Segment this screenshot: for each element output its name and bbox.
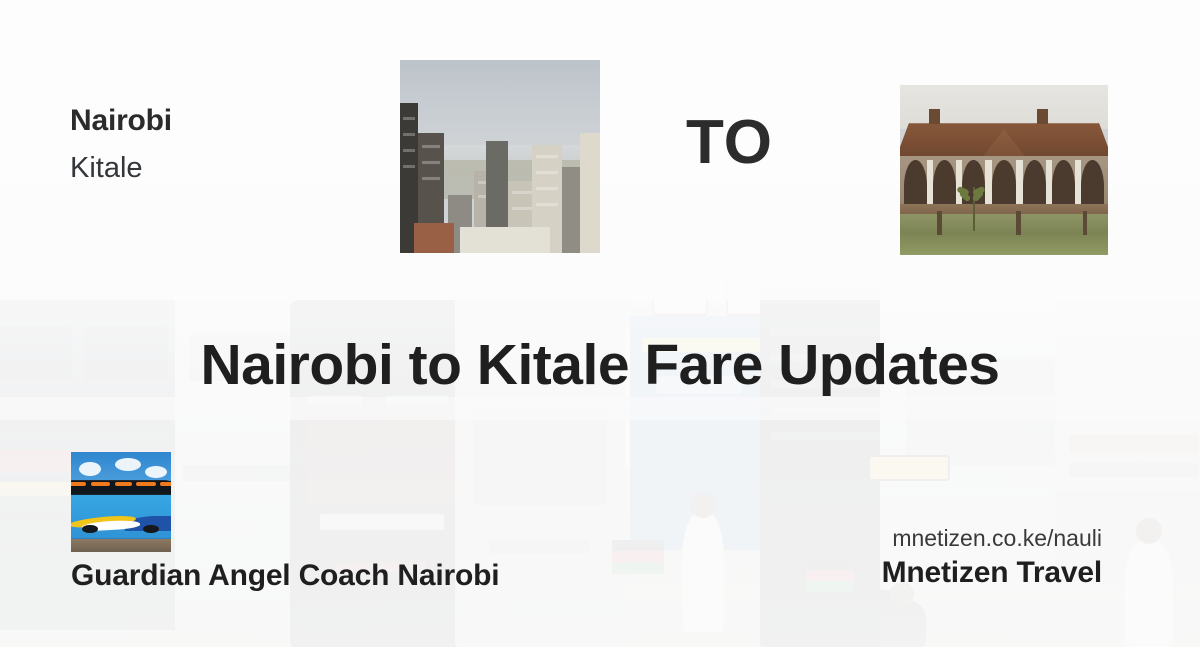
route-origin-label: Nairobi — [70, 104, 172, 139]
fare-update-card: Nairobi Kitale — [0, 0, 1200, 647]
station-column — [1075, 160, 1081, 208]
bus-stripe — [115, 482, 132, 487]
cloud-shape — [145, 466, 167, 478]
bus-photo-ground — [71, 539, 171, 552]
card-content: Nairobi Kitale — [0, 0, 1200, 647]
fence-post — [1083, 211, 1087, 235]
route-destination-label: Kitale — [70, 152, 143, 185]
site-name: Mnetizen Travel — [882, 555, 1102, 591]
bus-stripe — [136, 482, 155, 487]
bus-wheel — [82, 525, 98, 534]
bus-body-shape — [71, 480, 171, 538]
site-block: mnetizen.co.ke/nauli Mnetizen Travel — [882, 524, 1102, 591]
route-connector-label: TO — [686, 112, 773, 174]
station-lawn — [900, 214, 1108, 255]
site-url: mnetizen.co.ke/nauli — [882, 524, 1102, 553]
fence-post — [1016, 211, 1020, 235]
building-shape — [580, 133, 600, 253]
destination-photo — [900, 85, 1108, 255]
fence-post — [937, 211, 941, 235]
station-arch — [1052, 160, 1075, 204]
palm-plant — [962, 187, 985, 231]
page-title: Nairobi to Kitale Fare Updates — [0, 336, 1200, 396]
operator-thumbnail — [71, 452, 171, 552]
station-column — [1046, 160, 1052, 208]
bus-stripe — [91, 482, 110, 487]
operator-name: Guardian Angel Coach Nairobi — [71, 559, 499, 592]
origin-photo — [400, 60, 600, 253]
building-shape — [460, 227, 550, 253]
station-chimney — [1037, 109, 1047, 124]
bus-stripe — [71, 482, 86, 487]
station-column — [1016, 160, 1022, 208]
cloud-shape — [79, 462, 101, 476]
bus-stripe — [160, 482, 171, 487]
station-arch — [1023, 160, 1046, 204]
station-arch — [1081, 160, 1104, 204]
building-shape — [414, 223, 454, 253]
station-column — [927, 160, 933, 208]
bus-wheel — [143, 525, 159, 534]
station-chimney — [929, 109, 939, 124]
cloud-shape — [115, 458, 141, 471]
station-column — [985, 160, 991, 208]
